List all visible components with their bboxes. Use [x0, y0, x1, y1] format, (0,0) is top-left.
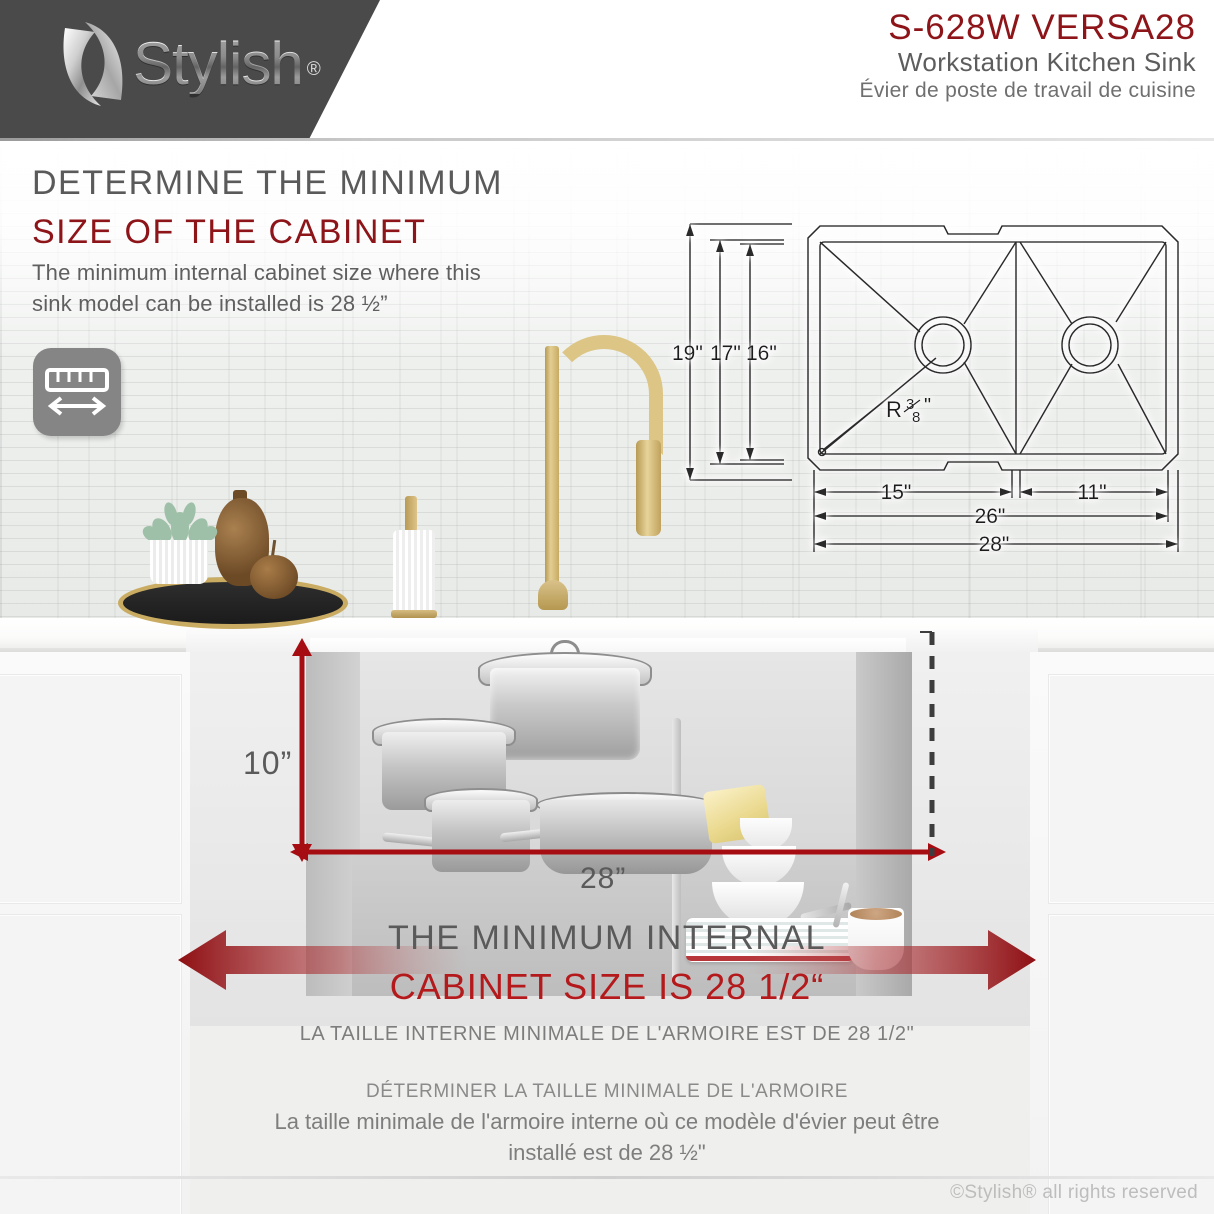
soap-dispenser-base	[391, 610, 437, 618]
succulent-plant	[142, 488, 218, 540]
stainless-skillet	[540, 800, 712, 874]
wooden-apple	[250, 555, 298, 599]
soap-dispenser	[393, 530, 435, 616]
product-spec-page: Stylish ® S-628W VERSA28 Workstation Kit…	[0, 0, 1214, 1214]
stylish-leaf-icon	[55, 14, 131, 114]
large-stock-pot	[490, 668, 640, 760]
registered-mark-icon: ®	[307, 59, 321, 81]
product-type-en: Workstation Kitchen Sink	[860, 47, 1196, 78]
cabinet-right-drawer-top	[1048, 674, 1214, 904]
cabinet-left-drawer-top	[0, 674, 182, 904]
brand-logo: Stylish ®	[55, 14, 321, 114]
header-titles: S-628W VERSA28 Workstation Kitchen Sink …	[860, 8, 1196, 105]
product-type-fr: Évier de poste de travail de cuisine	[860, 78, 1196, 104]
soap-dispenser-pump	[405, 496, 417, 532]
cabinet-right-drawer-bottom	[1048, 914, 1214, 1214]
faucet-arc	[545, 335, 663, 455]
page-header: Stylish ® S-628W VERSA28 Workstation Kit…	[0, 0, 1214, 140]
mug-liquid	[850, 908, 902, 920]
faucet-base	[538, 580, 568, 610]
kitchen-photo	[0, 140, 1214, 1214]
brand-wordmark: Stylish	[133, 34, 303, 94]
cabinet-right	[1030, 652, 1214, 1214]
plate-stack-accent	[686, 956, 854, 961]
photo-top-fade	[0, 140, 1214, 360]
cabinet-left-drawer-bottom	[0, 914, 182, 1214]
product-model: S-628W VERSA28	[860, 8, 1196, 47]
cabinet-left	[0, 652, 190, 1214]
faucet-spray-head	[636, 440, 661, 536]
header-divider	[0, 138, 1214, 141]
